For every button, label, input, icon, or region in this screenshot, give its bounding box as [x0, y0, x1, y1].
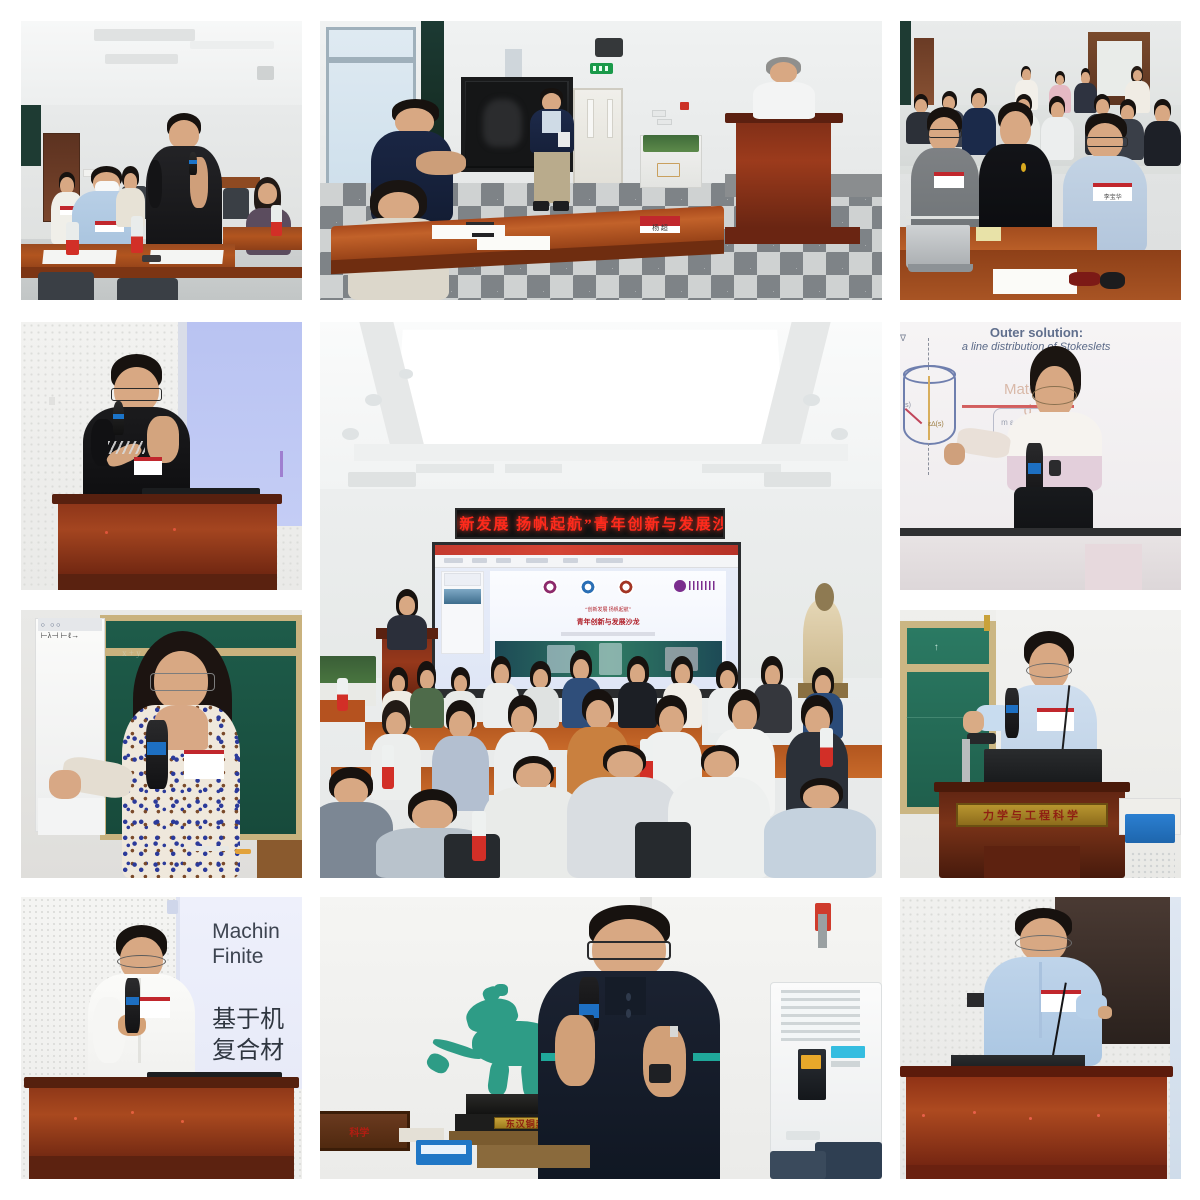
slide-heading-text: Outer solution:: [990, 325, 1083, 340]
photo-tile-1[interactable]: [21, 21, 302, 300]
ppt-title: 青年创新与发展沙龙: [532, 617, 683, 627]
scene-chalkboard-speaker: ○ ○ ○ ⊢λ⊣ ⊢ℓ→ ABCDE x + y: [21, 610, 302, 878]
photo-collage-grid: 杨 超: [0, 0, 1200, 1200]
scene-meeting-room-question: [21, 21, 302, 300]
scene-auditorium-wide: “创新发展 扬帆起航”青年创新与发展沙龙: [320, 322, 882, 878]
led-banner: “创新发展 扬帆起航”青年创新与发展沙龙: [455, 508, 725, 539]
podium-plaque-text: 力学与工程科学: [983, 807, 1081, 823]
slide-line-2-text: Finite: [212, 945, 263, 969]
photo-tile-2[interactable]: 杨 超: [320, 21, 882, 300]
scene-stokeslets-slide: Outer solution: a line distribution of S…: [900, 322, 1181, 590]
photo-tile-6[interactable]: Outer solution: a line distribution of S…: [900, 322, 1181, 590]
photo-tile-9[interactable]: Machin Finite 基于机 复合材: [21, 897, 302, 1179]
name-badge-text: 李宝华: [1104, 192, 1122, 201]
slide-line-1-text: Machin: [212, 920, 280, 944]
scene-bronze-horse: 东汉铜奔马: [320, 897, 882, 1179]
photo-tile-3[interactable]: 李宝华: [900, 21, 1181, 300]
slide-line-3-text: 基于机: [212, 999, 284, 1034]
side-board-text: 科学: [349, 1124, 369, 1139]
photo-tile-10[interactable]: 东汉铜奔马: [320, 897, 882, 1179]
photo-tile-5-center[interactable]: “创新发展 扬帆起航”青年创新与发展沙龙: [320, 322, 882, 878]
photo-tile-7[interactable]: ○ ○ ○ ⊢λ⊣ ⊢ℓ→ ABCDE x + y: [21, 610, 302, 878]
scene-conference-room-wide: 杨 超: [320, 21, 882, 300]
ppt-subtitle: “创新发展 扬帆起航”: [532, 606, 683, 613]
desk-nameplate-text: 杨 超: [652, 223, 668, 233]
photo-tile-4[interactable]: [21, 322, 302, 590]
scene-podium-red: [900, 897, 1181, 1179]
photo-tile-11[interactable]: [900, 897, 1181, 1179]
photo-tile-8[interactable]: ↑ 力学与工程科学: [900, 610, 1181, 878]
scene-podium-black-shirt: [21, 322, 302, 590]
scene-audience-rows: 李宝华: [900, 21, 1181, 300]
scene-podium-plaque: ↑ 力学与工程科学: [900, 610, 1181, 878]
scene-ml-slide-podium: Machin Finite 基于机 复合材: [21, 897, 302, 1179]
slide-line-4-text: 复合材: [212, 1030, 284, 1065]
led-banner-text: “创新发展 扬帆起航”青年创新与发展沙龙: [455, 513, 725, 534]
